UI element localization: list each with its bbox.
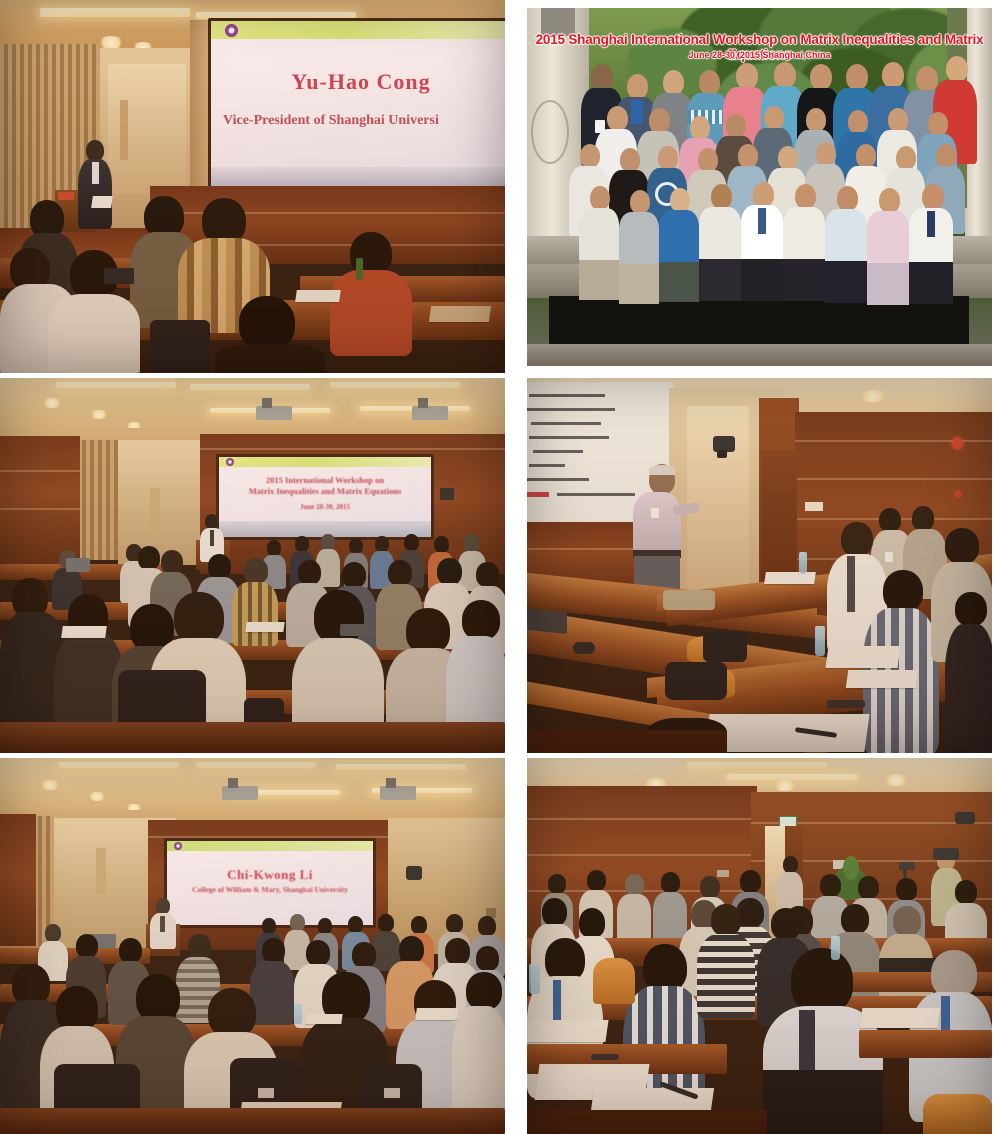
slide-title-line2: Matrix Inequalities and Matrix Equations xyxy=(219,486,431,496)
photo-chi-kwong-li: Chi-Kwong Li College of William & Mary, … xyxy=(0,758,505,1134)
attendee xyxy=(945,592,992,753)
slide-subtitle: College of William & Mary, Shanghai Univ… xyxy=(167,885,373,894)
photo-opening-speaker: Yu-Hao Cong Vice-President of Shanghai U… xyxy=(0,0,505,373)
slide-subtitle: Vice-President of Shanghai Universi xyxy=(223,113,505,129)
photo-group: 2015 Shanghai International Workshop on … xyxy=(527,8,992,366)
photo-attendees-seated xyxy=(527,758,992,1134)
attendee xyxy=(215,296,325,373)
projection-screen-frame: Yu-Hao Cong Vice-President of Shanghai U… xyxy=(208,18,505,190)
group-member-seated xyxy=(659,188,699,306)
projection-screen-frame: 2015 International Workshop on Matrix In… xyxy=(216,454,434,540)
projection-screen-frame: Chi-Kwong Li College of William & Mary, … xyxy=(164,838,376,928)
speaker xyxy=(150,898,176,946)
group-member-seated xyxy=(825,186,867,306)
board-highlight xyxy=(527,492,549,497)
attendee xyxy=(617,874,651,940)
group-member-seated xyxy=(909,184,953,306)
banner-subtitle: June 28-30, 2015 Shanghai,China xyxy=(527,50,992,60)
attendee xyxy=(697,904,755,1014)
group-member-seated xyxy=(699,184,741,304)
group-member-seated xyxy=(783,184,825,304)
slide-title: Chi-Kwong Li xyxy=(167,867,373,883)
projection-screen: Chi-Kwong Li College of William & Mary, … xyxy=(167,841,373,925)
group-member-seated xyxy=(619,190,659,306)
group-member-seated xyxy=(741,182,783,304)
photo-audience-wide: 2015 International Workshop on Matrix In… xyxy=(0,378,505,753)
photo-speaker-pointing xyxy=(527,378,992,753)
group-member-seated xyxy=(579,186,619,304)
projection-screen: Yu-Hao Cong Vice-President of Shanghai U… xyxy=(211,21,505,187)
slide-subtitle: June 28-30, 2015 xyxy=(219,503,431,511)
group-member-seated xyxy=(867,188,909,306)
slide-title-line1: 2015 International Workshop on xyxy=(219,475,431,485)
projection-screen: 2015 International Workshop on Matrix In… xyxy=(219,457,431,537)
slide-title: Yu-Hao Cong xyxy=(211,69,505,95)
speaker xyxy=(78,140,114,228)
attendee xyxy=(330,232,412,352)
photo-collage: Yu-Hao Cong Vice-President of Shanghai U… xyxy=(0,0,1000,1134)
